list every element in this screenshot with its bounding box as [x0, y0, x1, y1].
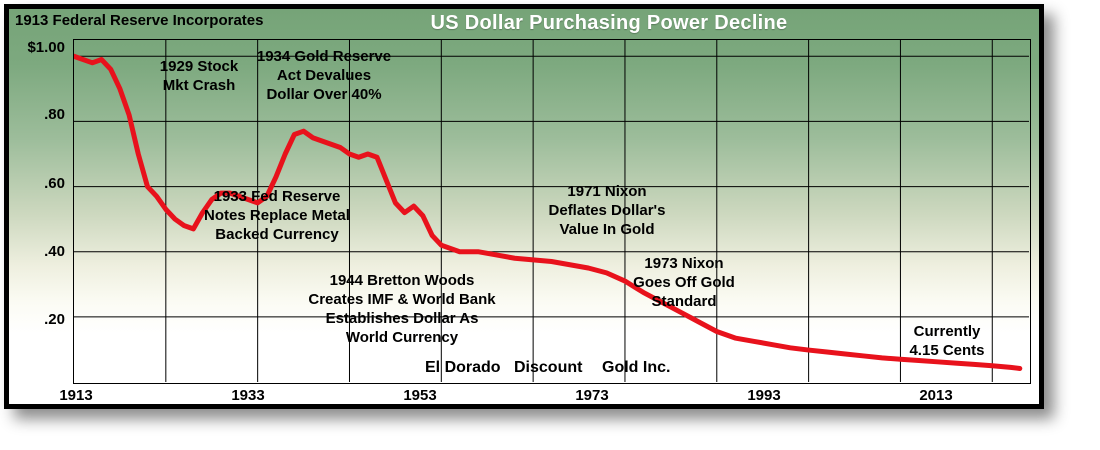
- sponsor-text-2: Discount: [514, 359, 582, 377]
- chart-canvas: 1913 Federal Reserve Incorporates US Dol…: [9, 9, 1039, 404]
- annotation-nixon-1971: 1971 Nixon Deflates Dollar's Value In Go…: [524, 182, 690, 239]
- y-axis-label-4: .40: [9, 243, 65, 260]
- y-axis-label-1: $1.00: [9, 39, 65, 56]
- x-axis-label-2: 1933: [208, 387, 288, 404]
- annotation-bretton-1944: 1944 Bretton Woods Creates IMF & World B…: [292, 271, 512, 347]
- y-axis-label-2: .80: [9, 106, 65, 123]
- y-axis-label-3: .60: [9, 175, 65, 192]
- chart-title: US Dollar Purchasing Power Decline: [9, 9, 1039, 37]
- x-axis-label-4: 1973: [552, 387, 632, 404]
- annotation-nixon-1973: 1973 Nixon Goes Off Gold Standard: [599, 254, 769, 311]
- annotation-notes-1933: 1933 Fed Reserve Notes Replace Metal Bac…: [187, 187, 367, 244]
- chart-frame: 1913 Federal Reserve Incorporates US Dol…: [4, 4, 1044, 409]
- x-axis-label-6: 2013: [896, 387, 976, 404]
- y-axis-label-5: .20: [9, 311, 65, 328]
- annotation-currently: Currently 4.15 Cents: [877, 322, 1017, 360]
- annotation-gold-1934: 1934 Gold Reserve Act Devalues Dollar Ov…: [239, 47, 409, 104]
- sponsor-text-1: El Dorado: [425, 359, 501, 377]
- x-axis-label-1: 1913: [36, 387, 116, 404]
- sponsor-text-3: Gold Inc.: [602, 359, 670, 377]
- x-axis-label-3: 1953: [380, 387, 460, 404]
- x-axis-label-5: 1993: [724, 387, 804, 404]
